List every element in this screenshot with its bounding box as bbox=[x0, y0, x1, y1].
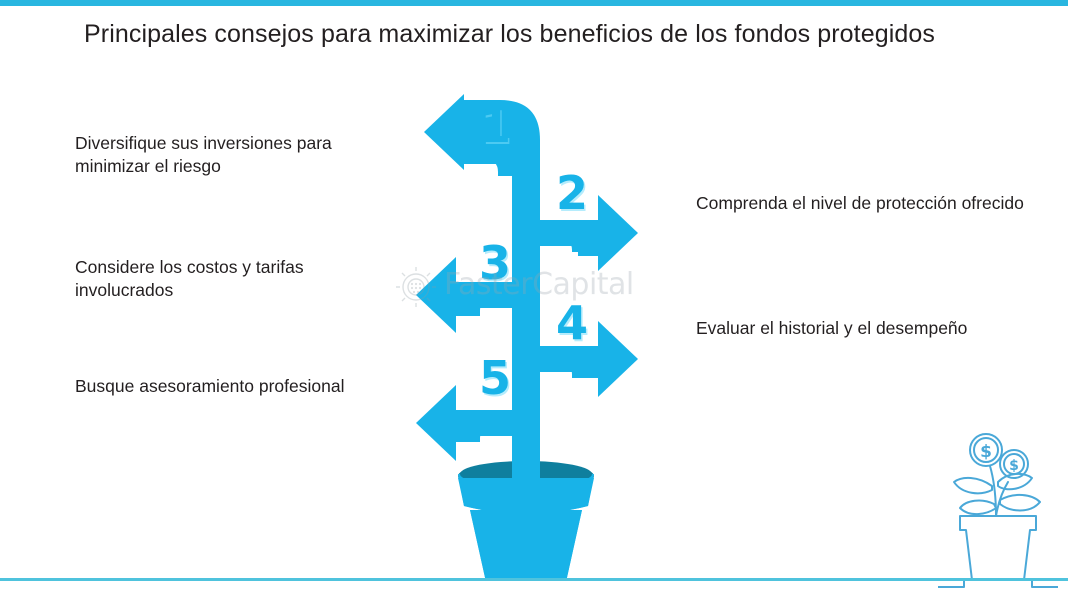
tip-text-3: Considere los costos y tarifas involucra… bbox=[75, 256, 405, 302]
coin-dollar-symbol-1: $ bbox=[980, 442, 992, 462]
step-number-5: 5 bbox=[479, 355, 511, 401]
branching-arrow-plant-graphic bbox=[400, 80, 680, 580]
step-number-1: 1 bbox=[479, 103, 511, 149]
bottom-accent-rule bbox=[0, 578, 1068, 581]
step-number-2: 2 bbox=[556, 170, 588, 216]
tip-text-4: Evaluar el historial y el desempeño bbox=[696, 317, 1026, 340]
tip-text-1: Diversifique sus inversiones para minimi… bbox=[75, 132, 405, 178]
page-title: Principales consejos para maximizar los … bbox=[84, 20, 984, 49]
slide-canvas: Principales consejos para maximizar los … bbox=[0, 0, 1068, 601]
tip-text-2: Comprenda el nivel de protección ofrecid… bbox=[696, 192, 1026, 215]
top-accent-rule bbox=[0, 0, 1068, 6]
tip-text-5: Busque asesoramiento profesional bbox=[75, 375, 405, 398]
money-plant-icon: $ $ bbox=[938, 420, 1058, 590]
coin-dollar-symbol-2: $ bbox=[1009, 458, 1019, 474]
step-number-4: 4 bbox=[556, 300, 588, 346]
step-number-3: 3 bbox=[479, 240, 511, 286]
